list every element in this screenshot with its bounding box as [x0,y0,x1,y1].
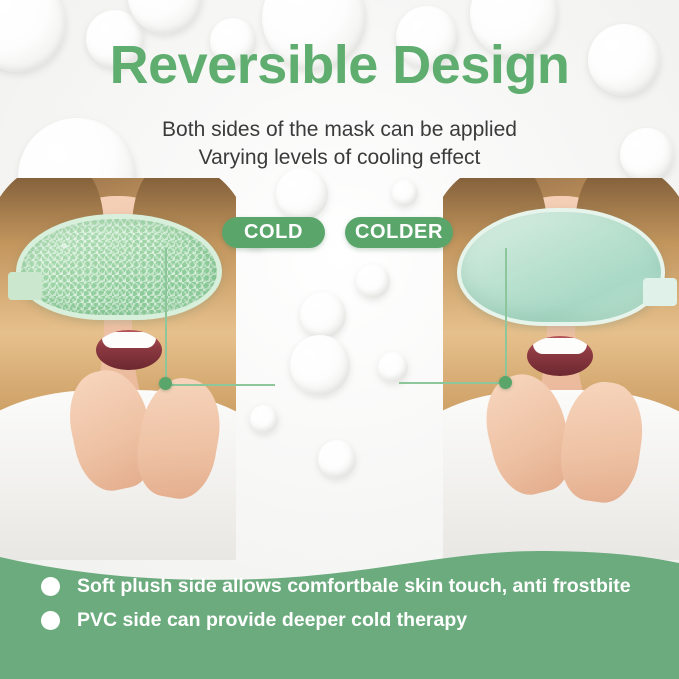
feature-banner: Soft plush side allows comfortbale skin … [0,529,679,679]
subtitle-line-2: Varying levels of cooling effect [0,144,679,172]
model-mouth [527,336,593,376]
connector-dot-colder [499,376,512,389]
subtitle-line-1: Both sides of the mask can be applied [0,116,679,144]
mask-strap-right [643,278,677,306]
list-item: PVC side can provide deeper cold therapy [0,609,679,631]
callout-badge-colder[interactable]: COLDER [345,217,453,248]
list-item: Soft plush side allows comfortbale skin … [0,575,679,597]
feature-bullet-text: Soft plush side allows comfortbale skin … [77,575,631,597]
page-subtitle: Both sides of the mask can be applied Va… [0,116,679,172]
mask-strap-left [8,272,42,300]
page-title: Reversible Design [0,36,679,94]
model-mouth [96,330,162,370]
connector-line-colder [399,248,507,384]
bullet-dot-icon [41,577,60,596]
callout-badge-cold-label: COLD [244,221,303,244]
product-infographic: Reversible Design Both sides of the mask… [0,0,679,679]
connector-line-cold [165,248,275,386]
feature-bullet-list: Soft plush side allows comfortbale skin … [0,575,679,643]
connector-dot-cold [159,377,172,390]
callout-badge-colder-label: COLDER [355,221,443,244]
feature-bullet-text: PVC side can provide deeper cold therapy [77,609,467,631]
bullet-dot-icon [41,611,60,630]
callout-badge-cold[interactable]: COLD [222,217,325,248]
